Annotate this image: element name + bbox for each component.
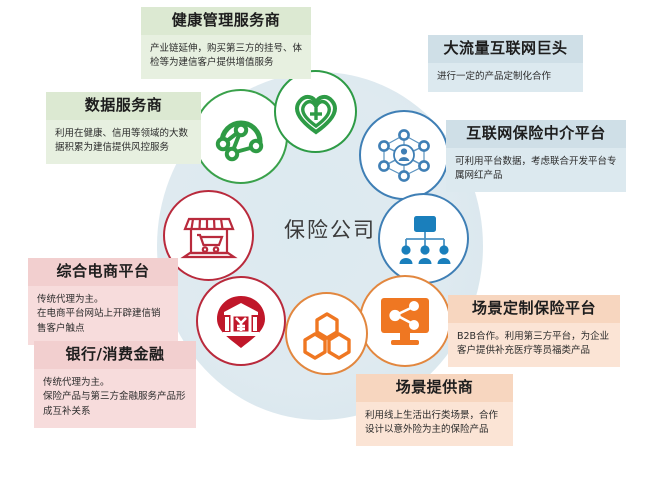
infographic-canvas: 保险公司: [0, 0, 650, 477]
callout-health-management-service-provider[interactable]: 健康管理服务商 产业链延伸，购买第三方的挂号、体检等为建信客户提供增值服务: [141, 7, 311, 79]
node-bank-pin[interactable]: [196, 276, 286, 366]
callout-title: 数据服务商: [46, 92, 201, 120]
callout-body: B2B合作。利用第三方平台，为企业客户提供补充医疗等员福类产品: [448, 323, 620, 367]
callout-scenario-customized-insurance-platform[interactable]: 场景定制保险平台 B2B合作。利用第三方平台，为企业客户提供补充医疗等员福类产品: [448, 295, 620, 367]
share-monitor-icon: [374, 290, 436, 352]
callout-body: 进行一定的产品定制化合作: [428, 63, 583, 93]
callout-title: 大流量互联网巨头: [428, 35, 583, 63]
callout-body: 利用在健康、信用等领域的大数据积累为建信提供风控服务: [46, 120, 201, 164]
callout-large-traffic-internet-giant[interactable]: 大流量互联网巨头 进行一定的产品定制化合作: [428, 35, 583, 92]
data-graph-icon: [210, 106, 272, 168]
node-network-users[interactable]: [359, 110, 449, 200]
callout-body: 传统代理为主。 保险产品与第三方金融服务产品形成互补关系: [34, 369, 196, 428]
callout-title: 银行/消费金融: [34, 341, 196, 369]
node-health-heart[interactable]: [274, 70, 357, 153]
honeycomb-icon: [299, 306, 355, 362]
node-share-monitor[interactable]: [359, 275, 451, 367]
callout-title: 综合电商平台: [28, 258, 178, 286]
network-user-icon: [373, 124, 435, 186]
heart-plus-icon: [288, 84, 344, 140]
callout-bank-consumer-finance[interactable]: 银行/消费金融 传统代理为主。 保险产品与第三方金融服务产品形成互补关系: [34, 341, 196, 428]
ecommerce-icon: [178, 205, 240, 267]
callout-title: 健康管理服务商: [141, 7, 311, 35]
callout-title: 互联网保险中介平台: [446, 120, 626, 148]
callout-data-service-provider[interactable]: 数据服务商 利用在健康、信用等领域的大数据积累为建信提供风控服务: [46, 92, 201, 164]
callout-body: 传统代理为主。 在电商平台网站上开辟建信销售客户触点: [28, 286, 178, 345]
callout-title: 场景提供商: [356, 374, 513, 402]
callout-title: 场景定制保险平台: [448, 295, 620, 323]
callout-comprehensive-ecommerce-platform[interactable]: 综合电商平台 传统代理为主。 在电商平台网站上开辟建信销售客户触点: [28, 258, 178, 345]
bank-pin-icon: [210, 290, 272, 352]
callout-body: 利用线上生活出行类场景，合作设计以意外险为主的保险产品: [356, 402, 513, 446]
node-org-chart[interactable]: [378, 193, 469, 284]
callout-body: 产业链延伸，购买第三方的挂号、体检等为建信客户提供增值服务: [141, 35, 311, 79]
callout-internet-insurance-intermediary-platform[interactable]: 互联网保险中介平台 可利用平台数据，考虑联合开发平台专属网红产品: [446, 120, 626, 192]
callout-scenario-provider[interactable]: 场景提供商 利用线上生活出行类场景，合作设计以意外险为主的保险产品: [356, 374, 513, 446]
org-chart-icon: [393, 208, 455, 270]
callout-body: 可利用平台数据，考虑联合开发平台专属网红产品: [446, 148, 626, 192]
node-honeycomb[interactable]: [285, 292, 368, 375]
